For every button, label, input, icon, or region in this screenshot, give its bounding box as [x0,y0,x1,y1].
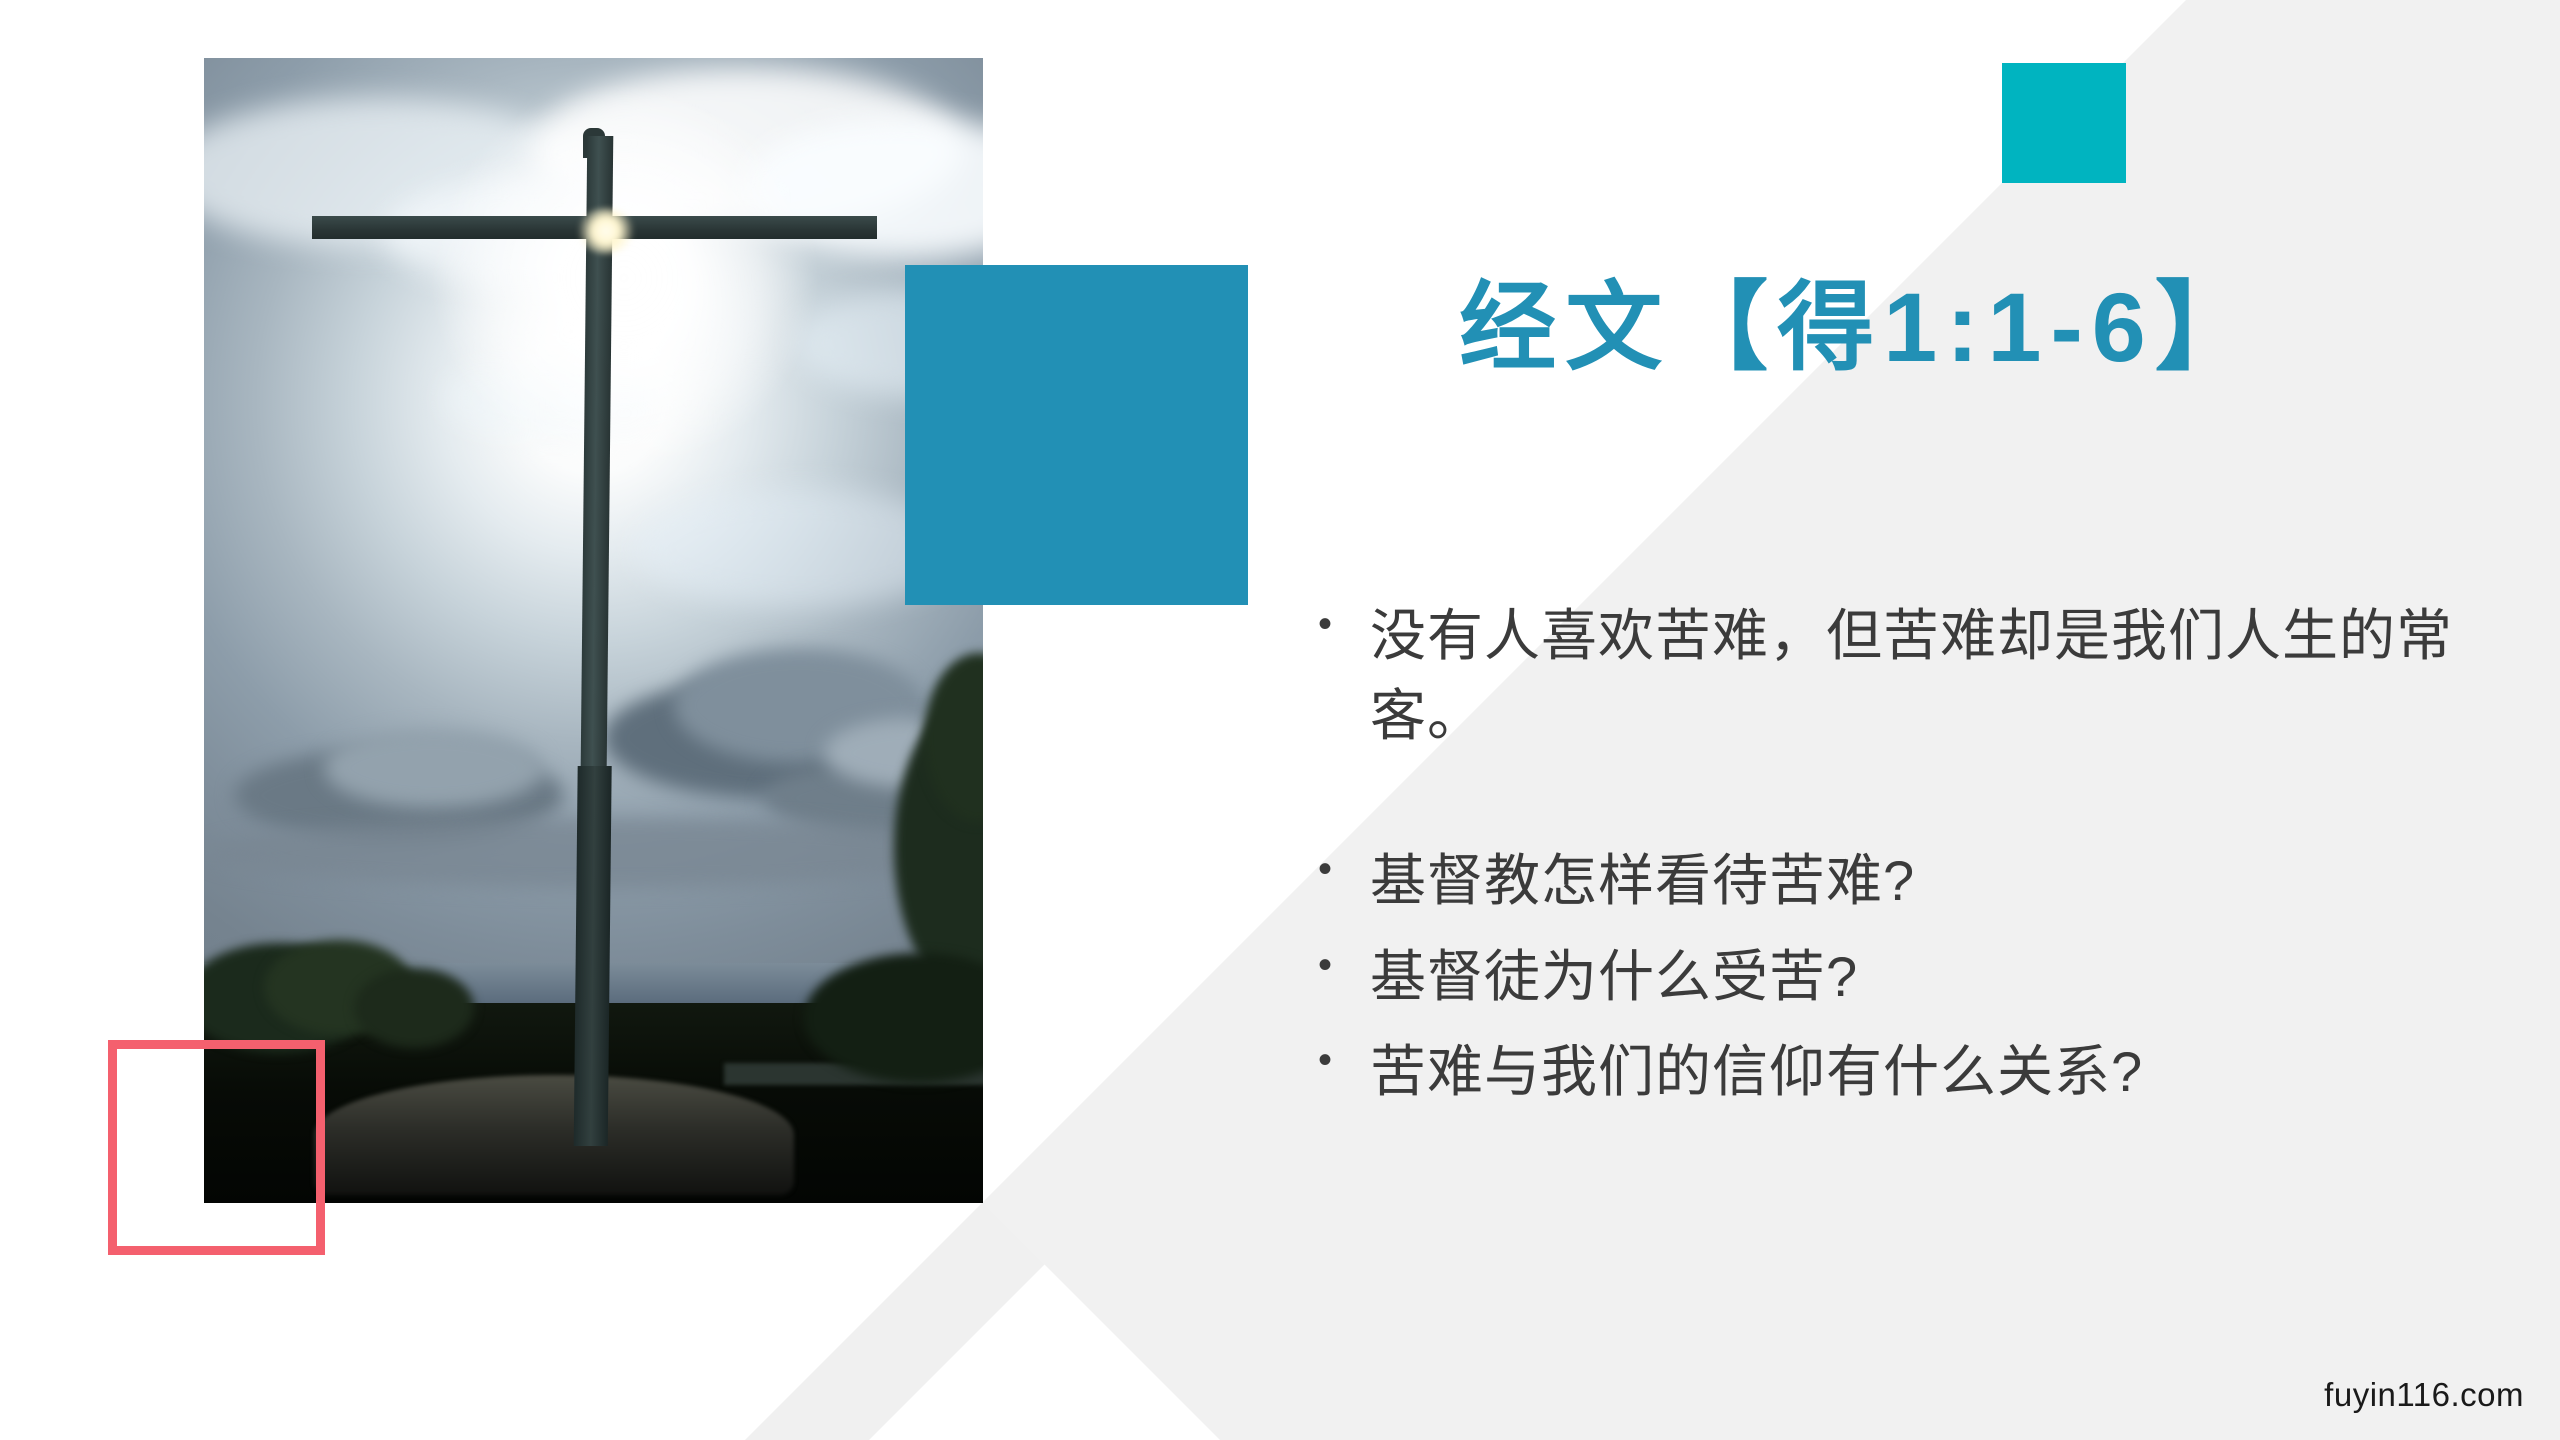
steel-blue-square [905,265,1248,605]
teal-square [2002,63,2126,183]
bullet-list: • 没有人喜欢苦难，但苦难却是我们人生的常客。 • 基督教怎样看待苦难? • 基… [1318,596,2488,1112]
slide-canvas: 经文【得1:1-6】 • 没有人喜欢苦难，但苦难却是我们人生的常客。 • 基督教… [0,0,2560,1440]
list-spacer [1318,1016,2488,1032]
list-item: • 没有人喜欢苦难，但苦难却是我们人生的常客。 [1318,596,2488,755]
list-item: • 苦难与我们的信仰有什么关系? [1318,1032,2488,1112]
site-watermark: fuyin116.com [2324,1376,2524,1414]
list-item-label: 没有人喜欢苦难，但苦难却是我们人生的常客。 [1370,596,2488,755]
cross-photo [204,58,983,1203]
list-item: • 基督徒为什么受苦? [1318,937,2488,1017]
page-title: 经文【得1:1-6】 [1300,272,2420,384]
pink-outline-square [108,1040,325,1255]
tree-foliage [354,968,474,1048]
sun-glow [434,88,814,468]
list-item-label: 基督教怎样看待苦难? [1370,841,2488,921]
dark-cloud-shape [324,728,544,808]
rock-mound [314,1075,794,1195]
list-spacer [1318,921,2488,937]
sun-flare [576,208,636,254]
bullet-icon: • [1318,596,1370,653]
list-item-label: 苦难与我们的信仰有什么关系? [1370,1032,2488,1112]
bullet-icon: • [1318,841,1370,898]
list-item-label: 基督徒为什么受苦? [1370,937,2488,1017]
list-item: • 基督教怎样看待苦难? [1318,841,2488,921]
list-spacer [1318,755,2488,841]
bullet-icon: • [1318,937,1370,994]
bullet-icon: • [1318,1032,1370,1089]
